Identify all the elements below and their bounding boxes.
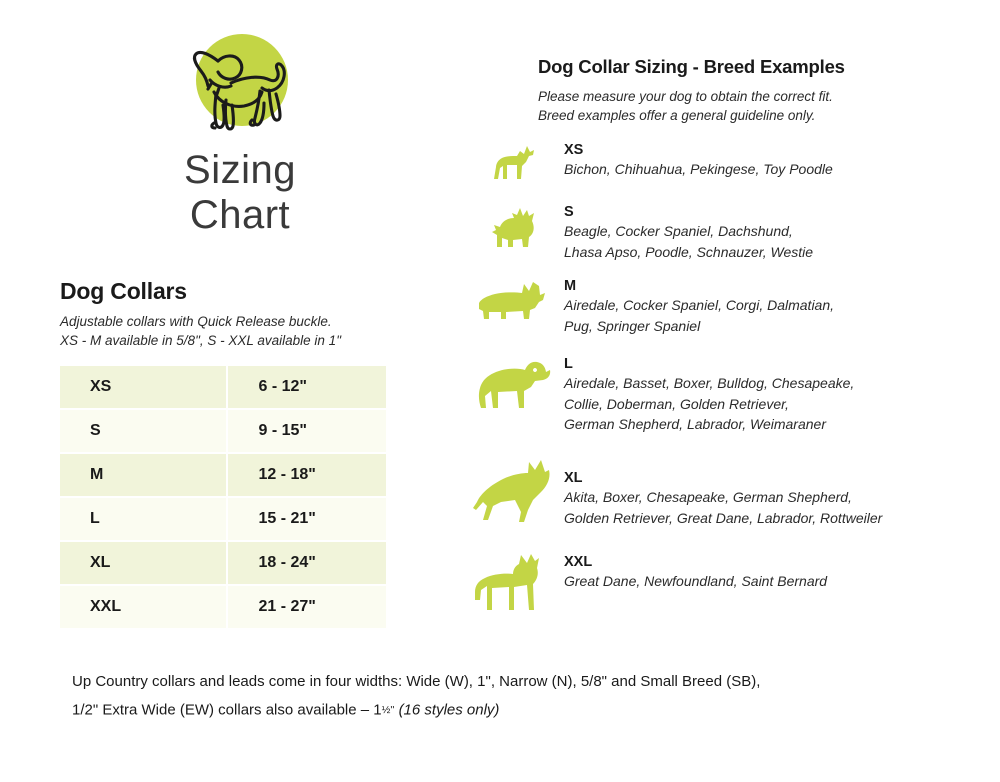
- list-item: XXL Great Dane, Newfoundland, Saint Bern…: [470, 548, 950, 618]
- cell-size: XS: [60, 366, 228, 410]
- breed-names-line: Akita, Boxer, Chesapeake, German Shepher…: [564, 487, 950, 508]
- cell-range: 18 - 24": [228, 542, 386, 586]
- dog-collars-subtext: Adjustable collars with Quick Release bu…: [60, 312, 420, 350]
- cell-range: 6 - 12": [228, 366, 386, 410]
- table-row: XL 18 - 24": [60, 542, 386, 586]
- collar-size-table: XS 6 - 12" S 9 - 15" M 12 - 18" L 15 - 2…: [60, 366, 386, 630]
- table-row: L 15 - 21": [60, 498, 386, 542]
- dog-collars-subtext-line2: XS - M available in 5/8", S - XXL availa…: [60, 331, 420, 350]
- breed-text-block: L Airedale, Basset, Boxer, Bulldog, Ches…: [560, 354, 950, 435]
- breed-size-label: XS: [564, 142, 950, 159]
- breed-text-block: S Beagle, Cocker Spaniel, Dachshund, Lha…: [560, 200, 950, 262]
- cell-size: XL: [60, 542, 228, 586]
- dog-collars-heading: Dog Collars: [60, 278, 420, 305]
- footer-line-1: Up Country collars and leads come in fou…: [72, 668, 952, 696]
- logo-wordmark: Sizing Chart: [184, 148, 296, 238]
- logo-wordmark-line2: Chart: [184, 193, 296, 238]
- breed-examples-note: Please measure your dog to obtain the co…: [538, 87, 958, 125]
- table-row: XS 6 - 12": [60, 366, 386, 410]
- list-item: XS Bichon, Chihuahua, Pekingese, Toy Poo…: [470, 138, 950, 200]
- cell-size: XXL: [60, 586, 228, 630]
- cell-range: 9 - 15": [228, 410, 386, 454]
- breed-example-list: XS Bichon, Chihuahua, Pekingese, Toy Poo…: [470, 138, 950, 618]
- breed-names-line: Pug, Springer Spaniel: [564, 316, 950, 337]
- list-item: M Airedale, Cocker Spaniel, Corgi, Dalma…: [470, 276, 950, 354]
- breed-names-line: Lhasa Apso, Poodle, Schnauzer, Westie: [564, 242, 950, 263]
- table-row: XXL 21 - 27": [60, 586, 386, 630]
- corgi-silhouette-icon: [470, 276, 560, 324]
- footer-line-2-italic: (16 styles only): [399, 702, 500, 719]
- cell-range: 21 - 27": [228, 586, 386, 630]
- sizing-chart-page: Sizing Chart Dog Collars Adjustable coll…: [0, 0, 1000, 782]
- chihuahua-silhouette-icon: [470, 138, 560, 182]
- breed-size-label: XXL: [564, 554, 950, 571]
- cell-range: 15 - 21": [228, 498, 386, 542]
- cell-size: S: [60, 410, 228, 454]
- dog-line-art-icon: [174, 28, 306, 146]
- breed-names-line: Beagle, Cocker Spaniel, Dachshund,: [564, 221, 950, 242]
- left-column: Sizing Chart Dog Collars Adjustable coll…: [60, 28, 420, 630]
- breed-names: Airedale, Basset, Boxer, Bulldog, Chesap…: [564, 373, 950, 435]
- cell-size: M: [60, 454, 228, 498]
- breed-names-line: Airedale, Cocker Spaniel, Corgi, Dalmati…: [564, 295, 950, 316]
- table-row: S 9 - 15": [60, 410, 386, 454]
- breed-names: Akita, Boxer, Chesapeake, German Shepher…: [564, 487, 950, 528]
- breed-names: Great Dane, Newfoundland, Saint Bernard: [564, 571, 950, 592]
- breed-names-line: Airedale, Basset, Boxer, Bulldog, Chesap…: [564, 373, 950, 394]
- logo-wordmark-line1: Sizing: [184, 148, 296, 193]
- breed-size-label: XL: [564, 470, 950, 487]
- breed-size-label: S: [564, 204, 950, 221]
- great-dane-silhouette-icon: [470, 548, 560, 618]
- breed-names: Beagle, Cocker Spaniel, Dachshund, Lhasa…: [564, 221, 950, 262]
- breed-names: Airedale, Cocker Spaniel, Corgi, Dalmati…: [564, 295, 950, 336]
- breed-note-line1: Please measure your dog to obtain the co…: [538, 87, 958, 106]
- breed-size-label: M: [564, 278, 950, 295]
- breed-text-block: XL Akita, Boxer, Chesapeake, German Shep…: [560, 456, 950, 528]
- list-item: L Airedale, Basset, Boxer, Bulldog, Ches…: [470, 354, 950, 456]
- breed-text-block: XXL Great Dane, Newfoundland, Saint Bern…: [560, 548, 950, 592]
- footer-line-2-pre: 1/2" Extra Wide (EW) collars also availa…: [72, 702, 382, 719]
- breed-examples-heading: Dog Collar Sizing - Breed Examples: [538, 56, 958, 78]
- breed-note-line2: Breed examples offer a general guideline…: [538, 106, 958, 125]
- right-column-header: Dog Collar Sizing - Breed Examples Pleas…: [538, 56, 958, 125]
- footer-note: Up Country collars and leads come in fou…: [72, 668, 952, 725]
- breed-names-line: Bichon, Chihuahua, Pekingese, Toy Poodle: [564, 159, 950, 180]
- list-item: S Beagle, Cocker Spaniel, Dachshund, Lha…: [470, 200, 950, 276]
- collar-size-table-body: XS 6 - 12" S 9 - 15" M 12 - 18" L 15 - 2…: [60, 366, 386, 630]
- cell-size: L: [60, 498, 228, 542]
- breed-names-line: Collie, Doberman, Golden Retriever,: [564, 394, 950, 415]
- breed-size-label: L: [564, 356, 950, 373]
- footer-fraction: ½'': [382, 704, 395, 716]
- breed-names-line: German Shepherd, Labrador, Weimaraner: [564, 414, 950, 435]
- breed-names-line: Great Dane, Newfoundland, Saint Bernard: [564, 571, 950, 592]
- westie-silhouette-icon: [470, 200, 560, 252]
- breed-names: Bichon, Chihuahua, Pekingese, Toy Poodle: [564, 159, 950, 180]
- german-shepherd-silhouette-icon: [470, 456, 560, 528]
- footer-line-2: 1/2" Extra Wide (EW) collars also availa…: [72, 696, 952, 725]
- cell-range: 12 - 18": [228, 454, 386, 498]
- retriever-silhouette-icon: [470, 354, 560, 416]
- list-item: XL Akita, Boxer, Chesapeake, German Shep…: [470, 456, 950, 548]
- breed-text-block: XS Bichon, Chihuahua, Pekingese, Toy Poo…: [560, 138, 950, 180]
- breed-names-line: Golden Retriever, Great Dane, Labrador, …: [564, 508, 950, 529]
- breed-text-block: M Airedale, Cocker Spaniel, Corgi, Dalma…: [560, 276, 950, 336]
- table-row: M 12 - 18": [60, 454, 386, 498]
- brand-logo: Sizing Chart: [60, 28, 420, 238]
- dog-collars-subtext-line1: Adjustable collars with Quick Release bu…: [60, 312, 420, 331]
